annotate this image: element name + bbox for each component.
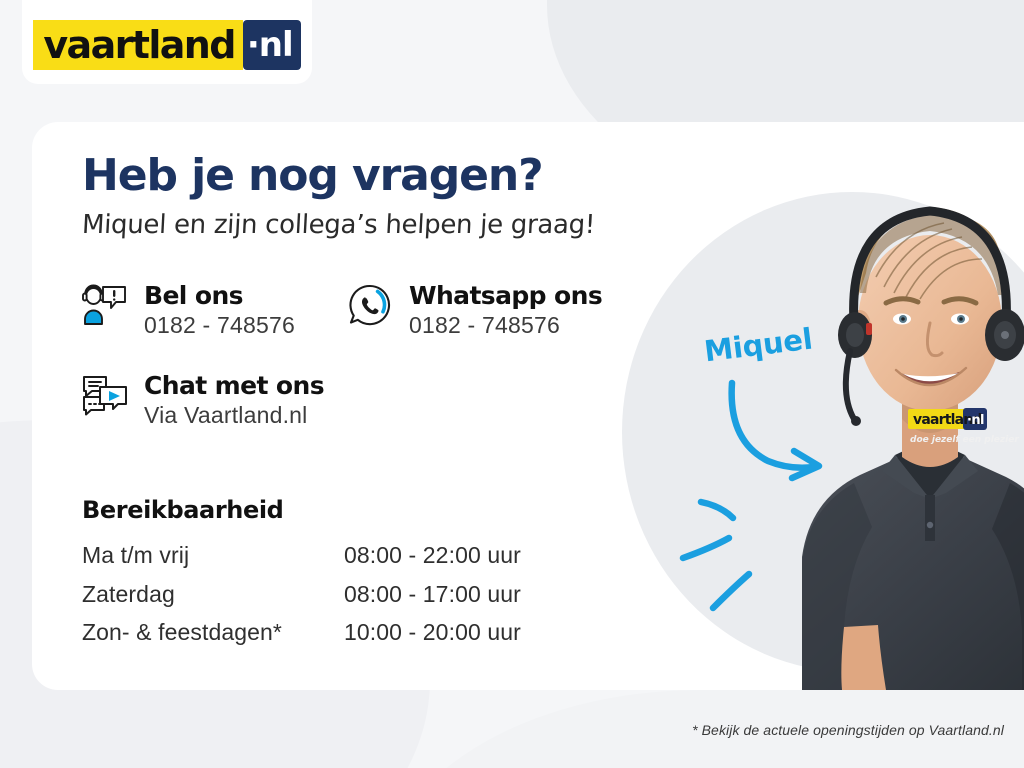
table-row: Zon- & feestdagen* 10:00 - 20:00 uur	[82, 619, 521, 658]
table-row: Ma t/m vrij 08:00 - 22:00 uur	[82, 542, 521, 581]
hours-day: Zaterdag	[82, 581, 344, 620]
contact-value[interactable]: 0182 - 748576	[144, 310, 295, 341]
hours-time: 08:00 - 17:00 uur	[344, 581, 521, 620]
contact-title: Whatsapp ons	[409, 282, 602, 310]
svg-text:doe jezelf een plezier: doe jezelf een plezier	[910, 435, 1019, 445]
contact-text-whatsapp: Whatsapp ons 0182 - 748576	[409, 280, 602, 341]
hours-day: Ma t/m vrij	[82, 542, 344, 581]
contact-block-bel-ons[interactable]: Bel ons 0182 - 748576	[80, 280, 295, 341]
contact-title: Chat met ons	[144, 372, 324, 400]
contact-block-whatsapp[interactable]: Whatsapp ons 0182 - 748576	[345, 280, 602, 341]
vaartland-logo[interactable]: vaartland ·nl	[33, 20, 300, 70]
logo-wordmark: vaartland	[33, 20, 242, 70]
contact-title: Bel ons	[144, 282, 295, 310]
hours-day: Zon- & feestdagen*	[82, 619, 344, 658]
curved-arrow-icon	[722, 377, 832, 482]
footnote-text: * Bekijk de actuele openingstijden op Va…	[0, 722, 1004, 738]
hours-time: 10:00 - 20:00 uur	[344, 619, 521, 658]
logo-panel: vaartland ·nl	[22, 0, 312, 84]
headset-person-icon	[80, 280, 130, 332]
contact-text-bel-ons: Bel ons 0182 - 748576	[144, 280, 295, 341]
svg-text:·nl: ·nl	[967, 413, 984, 428]
contact-block-chat[interactable]: Chat met ons Via Vaartland.nl	[80, 370, 324, 431]
logo-nl-badge: ·nl	[243, 20, 301, 70]
chat-bubbles-icon	[80, 370, 130, 422]
contact-value[interactable]: 0182 - 748576	[409, 310, 602, 341]
main-card: vaartland ·nl doe jezelf een plezier Heb…	[32, 122, 1024, 690]
page-root: vaartland ·nl	[0, 0, 1024, 768]
contact-text-chat: Chat met ons Via Vaartland.nl	[144, 370, 324, 431]
motion-lines-icon	[677, 482, 797, 622]
whatsapp-icon	[345, 280, 395, 332]
page-title: Heb je nog vragen?	[82, 150, 543, 201]
opening-hours-table: Ma t/m vrij 08:00 - 22:00 uur Zaterdag 0…	[82, 542, 521, 658]
page-subtitle: Miquel en zijn collega’s helpen je graag…	[81, 210, 596, 240]
table-row: Zaterdag 08:00 - 17:00 uur	[82, 581, 521, 620]
hours-time: 08:00 - 22:00 uur	[344, 542, 521, 581]
contact-value[interactable]: Via Vaartland.nl	[144, 400, 324, 431]
hours-heading: Bereikbaarheid	[82, 496, 283, 524]
